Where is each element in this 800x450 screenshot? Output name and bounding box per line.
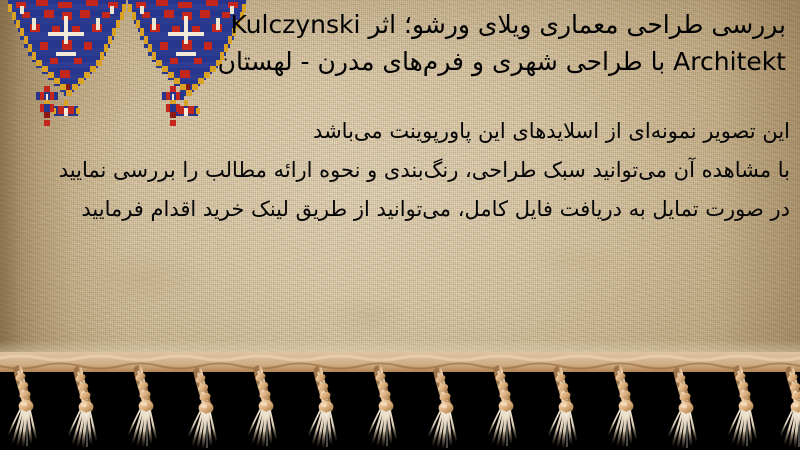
slide-title-line-2: Architekt با طراحی شهری و فرم‌های مدرن -… [0, 43, 794, 80]
slide-body-line-2: با مشاهده آن می‌توانید سبک طراحی، رنگ‌بن… [0, 151, 790, 190]
slide-body-block: این تصویر نمونه‌ای از اسلایدهای این پاور… [0, 112, 800, 229]
slide-body-line-1: این تصویر نمونه‌ای از اسلایدهای این پاور… [0, 112, 790, 151]
slide-title-line-1: بررسی طراحی معماری ویلای ورشو؛ اثر Kulcz… [0, 6, 794, 43]
presentation-slide: بررسی طراحی معماری ویلای ورشو؛ اثر Kulcz… [0, 0, 800, 450]
slide-body-line-3: در صورت تمایل به دریافت فایل کامل، می‌تو… [0, 190, 790, 229]
carpet-tassel-fringe [0, 352, 800, 450]
slide-title-block: بررسی طراحی معماری ویلای ورشو؛ اثر Kulcz… [0, 6, 800, 80]
